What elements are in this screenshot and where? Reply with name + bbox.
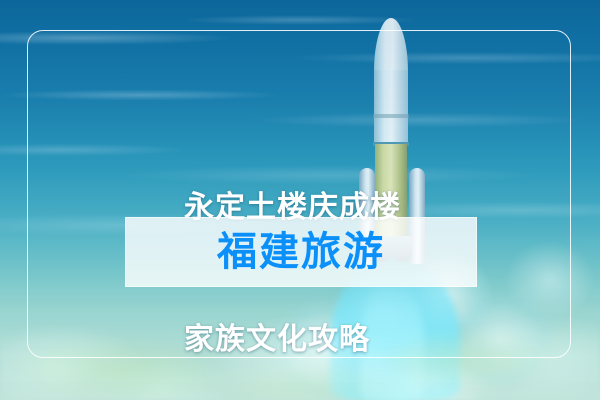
category-banner[interactable]: 福建旅游	[125, 217, 477, 287]
category-banner-label: 福建旅游	[217, 232, 385, 272]
page-title-line-2: 家族文化攻略	[184, 318, 504, 362]
promotional-image: 永定土楼庆成楼 家族文化攻略 福建旅游	[0, 0, 600, 400]
